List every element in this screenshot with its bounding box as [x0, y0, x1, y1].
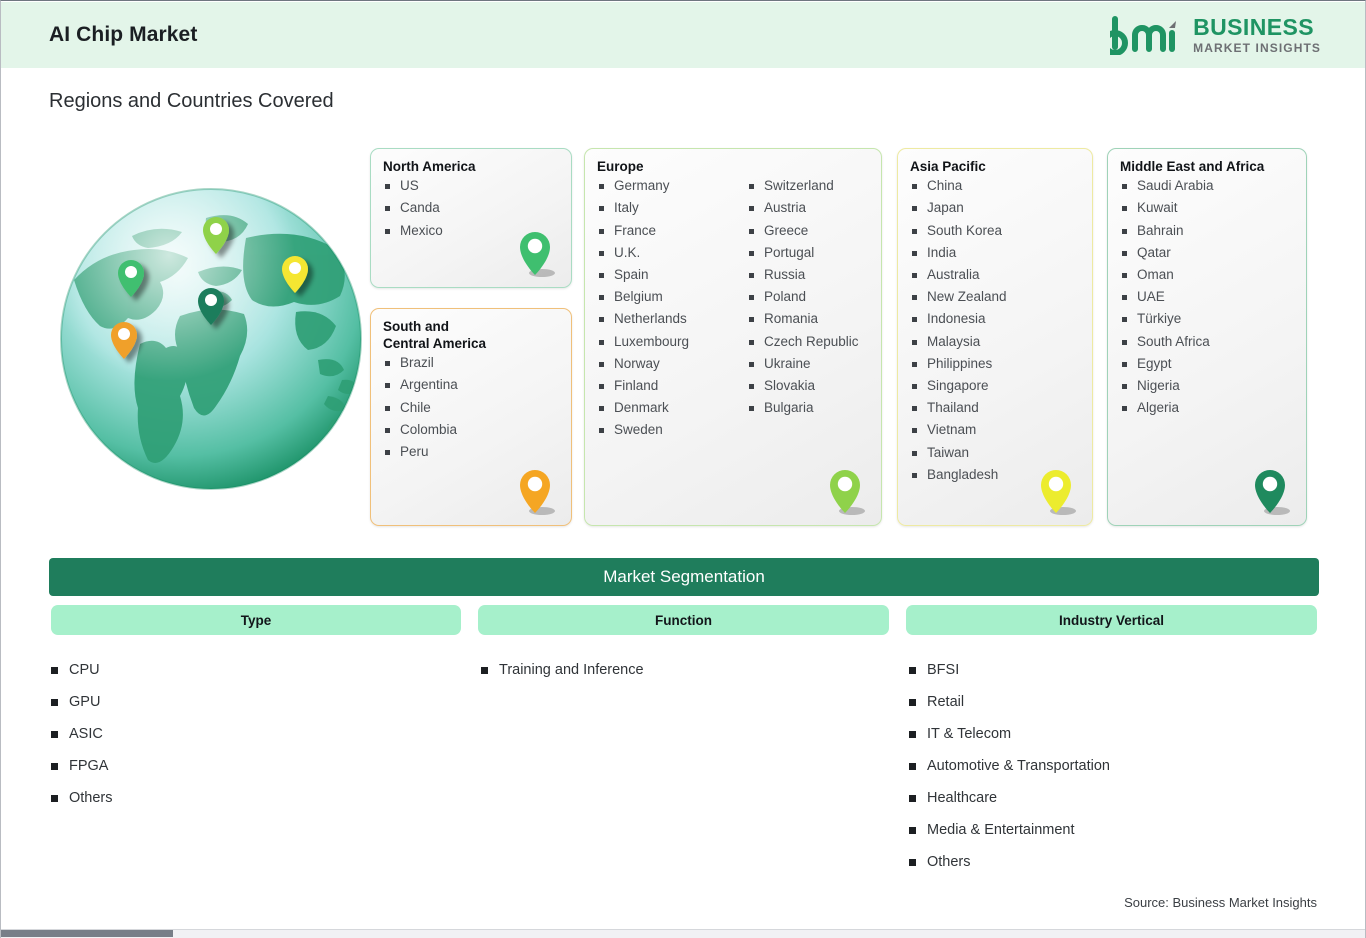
region-country-list-left: Germany Italy France U.K. Spain Belgium …	[597, 175, 747, 441]
country-item: Colombia	[383, 419, 458, 441]
segmentation-item: Automotive & Transportation	[909, 750, 1110, 782]
country-item: Malaysia	[910, 331, 1007, 353]
country-item: South Africa	[1120, 331, 1214, 353]
segmentation-item: Others	[909, 846, 1110, 878]
country-item: Ukraine	[747, 353, 859, 375]
country-item: Philippines	[910, 353, 1007, 375]
region-title-line1: South and	[383, 319, 449, 334]
map-pin-icon	[824, 467, 870, 519]
country-item: Bulgaria	[747, 397, 859, 419]
country-item: Saudi Arabia	[1120, 175, 1214, 197]
brand-logo: BUSINESS MARKET INSIGHTS	[1110, 15, 1321, 55]
segmentation-header-type: Type	[51, 605, 461, 635]
country-item: Bahrain	[1120, 220, 1214, 242]
segmentation-list-type: CPU GPU ASIC FPGA Others	[51, 654, 113, 814]
country-item: Denmark	[597, 397, 747, 419]
country-item: Finland	[597, 375, 747, 397]
map-pin-icon	[514, 467, 560, 519]
country-item: New Zealand	[910, 286, 1007, 308]
country-item: Sweden	[597, 419, 747, 441]
map-pin-icon	[1249, 467, 1295, 519]
country-item: Taiwan	[910, 442, 1007, 464]
country-item: Kuwait	[1120, 197, 1214, 219]
region-country-list: Saudi Arabia Kuwait Bahrain Qatar Oman U…	[1120, 175, 1214, 419]
region-title-line2: Central America	[383, 336, 486, 351]
country-item: China	[910, 175, 1007, 197]
country-item: Belgium	[597, 286, 747, 308]
region-title: Europe	[597, 158, 870, 175]
segmentation-header-function: Function	[478, 605, 889, 635]
country-item: South Korea	[910, 220, 1007, 242]
segmentation-list-industry-vertical: BFSI Retail IT & Telecom Automotive & Tr…	[909, 654, 1110, 878]
country-item: US	[383, 175, 443, 197]
horizontal-scrollbar-thumb[interactable]	[1, 930, 173, 937]
source-note: Source: Business Market Insights	[1124, 895, 1317, 910]
section-title: Regions and Countries Covered	[49, 90, 334, 113]
segmentation-item: CPU	[51, 654, 113, 686]
market-segmentation-banner: Market Segmentation	[49, 558, 1319, 596]
region-title: Asia Pacific	[910, 158, 1081, 175]
country-item: Singapore	[910, 375, 1007, 397]
region-country-list-right: Switzerland Austria Greece Portugal Russ…	[747, 175, 859, 441]
logo-insights-text: MARKET INSIGHTS	[1193, 42, 1321, 54]
page-title: AI Chip Market	[49, 23, 197, 47]
segmentation-item: Media & Entertainment	[909, 814, 1110, 846]
bmi-logo-icon	[1110, 15, 1184, 55]
country-item: Greece	[747, 220, 859, 242]
country-item: Canda	[383, 197, 443, 219]
world-globe-illustration	[56, 184, 366, 494]
country-item: Argentina	[383, 374, 458, 396]
page-root: AI Chip Market BUSINESS MARKET INSIGHTS …	[0, 0, 1366, 938]
country-item: Switzerland	[747, 175, 859, 197]
country-item: Mexico	[383, 220, 443, 242]
region-card-north-america: North America US Canda Mexico	[370, 148, 572, 288]
country-item: Italy	[597, 197, 747, 219]
country-item: Algeria	[1120, 397, 1214, 419]
country-item: Norway	[597, 353, 747, 375]
country-item: U.K.	[597, 242, 747, 264]
country-item: Poland	[747, 286, 859, 308]
country-item: Spain	[597, 264, 747, 286]
country-item: Luxembourg	[597, 331, 747, 353]
country-item: Oman	[1120, 264, 1214, 286]
region-country-list: Brazil Argentina Chile Colombia Peru	[383, 352, 458, 463]
region-title: North America	[383, 158, 560, 175]
segmentation-item: Retail	[909, 686, 1110, 718]
country-item: Brazil	[383, 352, 458, 374]
country-item: Czech Republic	[747, 331, 859, 353]
country-item: Nigeria	[1120, 375, 1214, 397]
segmentation-list-function: Training and Inference	[481, 654, 644, 686]
country-item: Portugal	[747, 242, 859, 264]
segmentation-item: GPU	[51, 686, 113, 718]
country-item: Australia	[910, 264, 1007, 286]
country-item: UAE	[1120, 286, 1214, 308]
region-title: South and Central America	[383, 318, 560, 352]
region-card-europe: Europe Germany Italy France U.K. Spain B…	[584, 148, 882, 526]
country-item: France	[597, 220, 747, 242]
segmentation-item: ASIC	[51, 718, 113, 750]
country-item: India	[910, 242, 1007, 264]
map-pin-icon	[514, 229, 560, 281]
country-item: Slovakia	[747, 375, 859, 397]
country-item: Japan	[910, 197, 1007, 219]
logo-business-text: BUSINESS	[1193, 16, 1321, 39]
region-card-asia-pacific: Asia Pacific China Japan South Korea Ind…	[897, 148, 1093, 526]
region-country-list: US Canda Mexico	[383, 175, 443, 242]
segmentation-item: Others	[51, 782, 113, 814]
country-item: Chile	[383, 397, 458, 419]
segmentation-item: FPGA	[51, 750, 113, 782]
region-country-list: China Japan South Korea India Australia …	[910, 175, 1007, 486]
country-item: Austria	[747, 197, 859, 219]
region-card-south-central-america: South and Central America Brazil Argenti…	[370, 308, 572, 526]
segmentation-item: Healthcare	[909, 782, 1110, 814]
country-item: Bangladesh	[910, 464, 1007, 486]
country-item: Romania	[747, 308, 859, 330]
country-item: Germany	[597, 175, 747, 197]
country-item: Türkiye	[1120, 308, 1214, 330]
page-header: AI Chip Market BUSINESS MARKET INSIGHTS	[1, 2, 1365, 68]
segmentation-item: Training and Inference	[481, 654, 644, 686]
country-item: Qatar	[1120, 242, 1214, 264]
country-item: Egypt	[1120, 353, 1214, 375]
country-item: Russia	[747, 264, 859, 286]
region-title: Middle East and Africa	[1120, 158, 1295, 175]
map-pin-icon	[1035, 467, 1081, 519]
segmentation-item: IT & Telecom	[909, 718, 1110, 750]
segmentation-item: BFSI	[909, 654, 1110, 686]
country-item: Netherlands	[597, 308, 747, 330]
country-item: Thailand	[910, 397, 1007, 419]
segmentation-header-industry-vertical: Industry Vertical	[906, 605, 1317, 635]
horizontal-scrollbar-track[interactable]	[1, 929, 1366, 938]
logo-wordmark: BUSINESS MARKET INSIGHTS	[1193, 16, 1321, 54]
country-item: Peru	[383, 441, 458, 463]
country-item: Vietnam	[910, 419, 1007, 441]
country-item: Indonesia	[910, 308, 1007, 330]
region-card-middle-east-africa: Middle East and Africa Saudi Arabia Kuwa…	[1107, 148, 1307, 526]
